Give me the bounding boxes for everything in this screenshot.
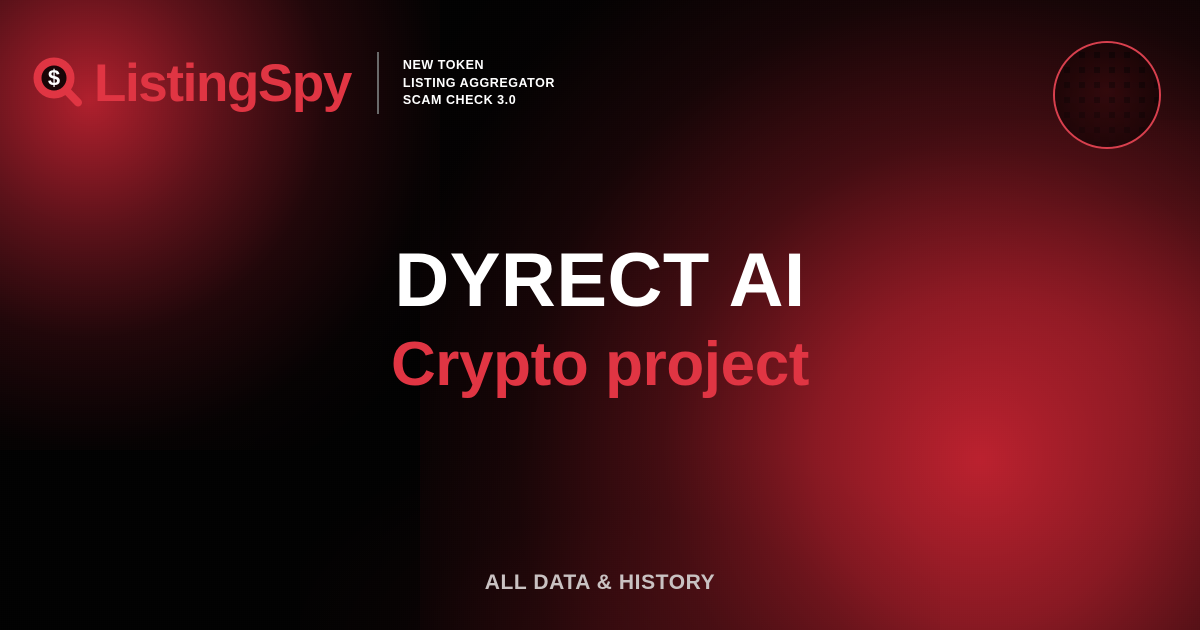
- header-divider: [377, 52, 379, 114]
- footer-caption: ALL DATA & HISTORY: [0, 571, 1200, 595]
- tagline-line-2: LISTING AGGREGATOR: [403, 76, 555, 90]
- background-glow-bottom-center: [300, 450, 940, 630]
- magnifier-dollar-icon: $: [33, 57, 85, 109]
- brand-wordmark-listing: Listing: [94, 54, 258, 113]
- page-subtitle: Crypto project: [0, 332, 1200, 397]
- grid-pattern-circle-icon: [1053, 41, 1161, 149]
- brand-wordmark-spy: Spy: [258, 54, 351, 113]
- badge-vignette: [1055, 43, 1159, 147]
- brand-tagline: NEW TOKEN LISTING AGGREGATOR SCAM CHECK …: [403, 58, 555, 107]
- tagline-line-1: NEW TOKEN: [403, 58, 555, 72]
- promo-banner: $ ListingSpy NEW TOKEN LISTING AGGREGATO…: [0, 0, 1200, 630]
- brand-wordmark: ListingSpy: [94, 57, 351, 110]
- headline-block: DYRECT AI Crypto project: [0, 243, 1200, 397]
- page-title: DYRECT AI: [0, 243, 1200, 319]
- tagline-line-3: SCAM CHECK 3.0: [403, 93, 555, 107]
- brand-header[interactable]: $ ListingSpy NEW TOKEN LISTING AGGREGATO…: [33, 52, 555, 114]
- svg-text:$: $: [48, 66, 60, 91]
